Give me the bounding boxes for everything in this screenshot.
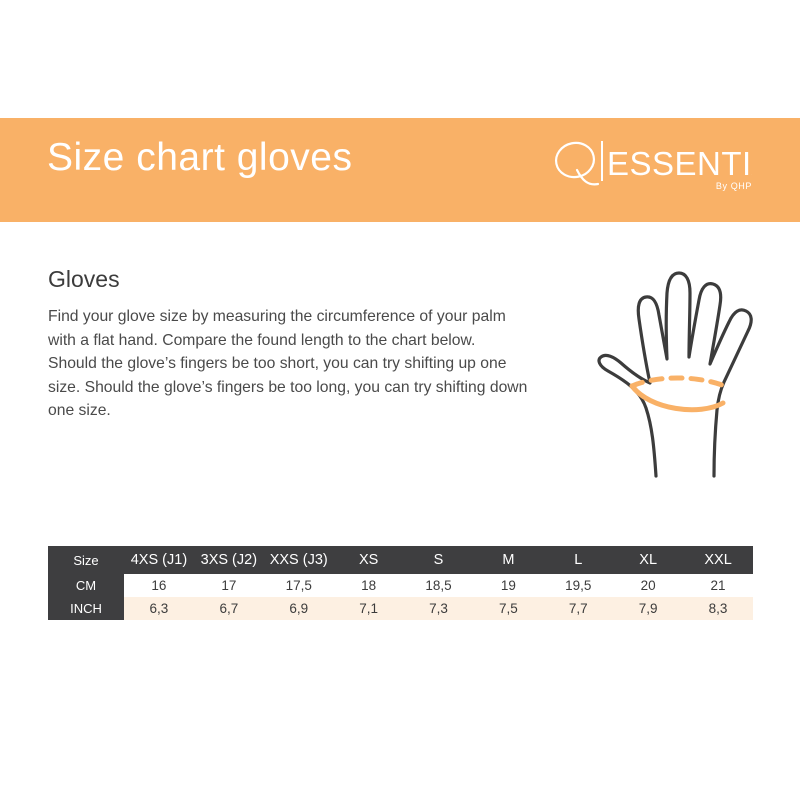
- cell-cm-3xs: 17: [194, 574, 264, 597]
- column-header-xxl: XXL: [683, 546, 753, 574]
- column-header-3xs: 3XS (J2): [194, 546, 264, 574]
- column-header-4xs: 4XS (J1): [124, 546, 194, 574]
- cell-cm-s: 18,5: [404, 574, 474, 597]
- table-header-row: Size 4XS (J1) 3XS (J2) XXS (J3) XS S M L…: [48, 546, 753, 574]
- cell-inch-l: 7,7: [543, 597, 613, 620]
- cell-inch-xxl: 8,3: [683, 597, 753, 620]
- hand-outline-path: [599, 273, 751, 476]
- section-body-text: Find your glove size by measuring the ci…: [48, 305, 528, 423]
- row-label-inch: INCH: [48, 597, 124, 620]
- column-header-l: L: [543, 546, 613, 574]
- cell-inch-s: 7,3: [404, 597, 474, 620]
- table-row-cm: CM 16 17 17,5 18 18,5 19 19,5 20 21: [48, 574, 753, 597]
- column-header-xl: XL: [613, 546, 683, 574]
- cell-cm-xs: 18: [334, 574, 404, 597]
- table-corner-label: Size: [48, 546, 124, 574]
- cell-inch-m: 7,5: [473, 597, 543, 620]
- cell-inch-3xs: 6,7: [194, 597, 264, 620]
- cell-inch-xl: 7,9: [613, 597, 683, 620]
- column-header-xxs: XXS (J3): [264, 546, 334, 574]
- size-chart-table-wrapper: Size 4XS (J1) 3XS (J2) XXS (J3) XS S M L…: [48, 546, 753, 620]
- cell-inch-xs: 7,1: [334, 597, 404, 620]
- page-title: Size chart gloves: [47, 138, 352, 177]
- section-heading: Gloves: [48, 268, 120, 291]
- header-banner: Size chart gloves ESSENTIALS By QHP: [0, 118, 800, 222]
- table-row-inch: INCH 6,3 6,7 6,9 7,1 7,3 7,5 7,7 7,9 8,3: [48, 597, 753, 620]
- column-header-xs: XS: [334, 546, 404, 574]
- size-chart-table: Size 4XS (J1) 3XS (J2) XXS (J3) XS S M L…: [48, 546, 753, 620]
- brand-subtitle: By QHP: [716, 181, 752, 191]
- column-header-s: S: [404, 546, 474, 574]
- cell-cm-4xs: 16: [124, 574, 194, 597]
- cell-inch-xxs: 6,9: [264, 597, 334, 620]
- cell-cm-xxl: 21: [683, 574, 753, 597]
- cell-cm-m: 19: [473, 574, 543, 597]
- hand-measure-illustration: [570, 240, 770, 480]
- column-header-m: M: [473, 546, 543, 574]
- hand-illustration-svg: [570, 240, 770, 480]
- cell-cm-xxs: 17,5: [264, 574, 334, 597]
- cell-cm-xl: 20: [613, 574, 683, 597]
- brand-logo: ESSENTIALS By QHP: [552, 138, 752, 200]
- brand-name-text: ESSENTIALS: [607, 145, 752, 182]
- cell-cm-l: 19,5: [543, 574, 613, 597]
- content-section: Gloves Find your glove size by measuring…: [0, 222, 800, 522]
- row-label-cm: CM: [48, 574, 124, 597]
- cell-inch-4xs: 6,3: [124, 597, 194, 620]
